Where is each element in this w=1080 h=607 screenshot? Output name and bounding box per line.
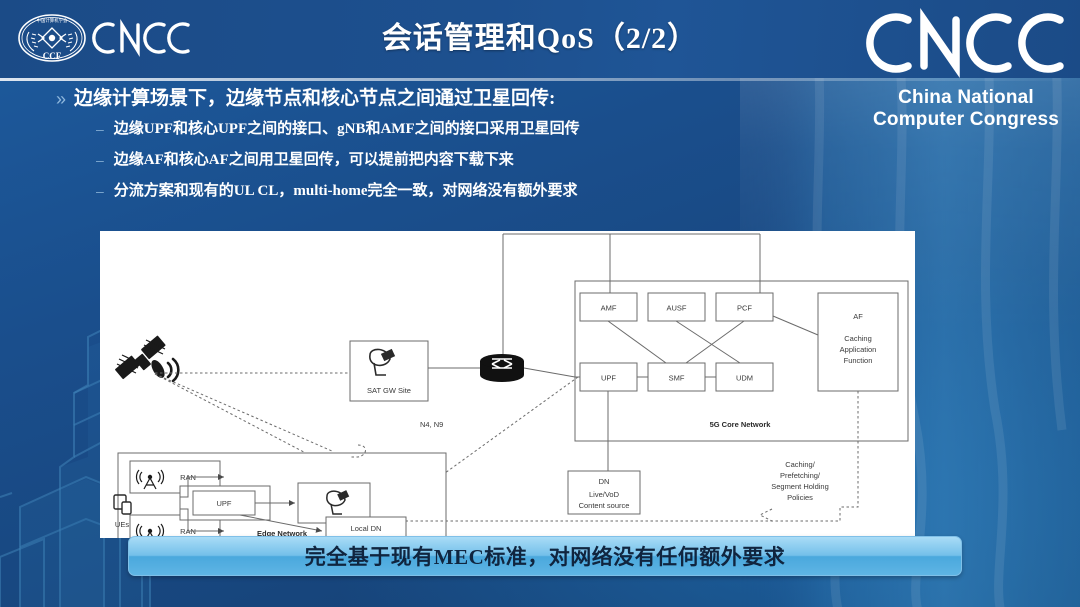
policies-line1: Caching/ bbox=[785, 460, 816, 469]
router-icon bbox=[480, 354, 524, 382]
af-application-label: Application bbox=[840, 345, 877, 354]
policy-arrow-icon bbox=[760, 509, 772, 521]
summary-banner: 完全基于现有MEC标准，对网络没有任何额外要求 bbox=[128, 536, 962, 576]
udm-label: UDM bbox=[736, 374, 753, 383]
upf-core-label: UPF bbox=[601, 374, 616, 383]
summary-banner-text: 完全基于现有MEC标准，对网络没有任何额外要求 bbox=[305, 541, 786, 571]
cncc-logo-line2: Computer Congress bbox=[858, 109, 1074, 131]
bullet-level2: – 分流方案和现有的UL CL，multi-home完全一致，对网络没有额外要求 bbox=[96, 180, 956, 202]
dash-marker-icon: – bbox=[96, 118, 104, 140]
policies-line2: Prefetching/ bbox=[780, 471, 821, 480]
ues-label: UEs bbox=[115, 520, 129, 529]
edge-upf-label: UPF bbox=[217, 499, 232, 508]
af-caching-label: Caching bbox=[844, 334, 872, 343]
policies-line3: Segment Holding bbox=[771, 482, 829, 491]
satellite-icon bbox=[115, 335, 179, 381]
smf-label: SMF bbox=[669, 374, 685, 383]
sub-bullet-list: – 边缘UPF和核心UPF之间的接口、gNB和AMF之间的接口采用卫星回传 – … bbox=[96, 118, 956, 202]
af-label: AF bbox=[853, 312, 863, 321]
dash-marker-icon: – bbox=[96, 149, 104, 171]
architecture-diagram-card: .bx{fill:#ffffff;stroke:#6b6b6b;stroke-w… bbox=[100, 231, 915, 538]
bullet-level1: » 边缘计算场景下，边缘节点和核心节点之间通过卫星回传: bbox=[56, 86, 956, 112]
bullet-level2-text: 分流方案和现有的UL CL，multi-home完全一致，对网络没有额外要求 bbox=[114, 180, 578, 202]
architecture-diagram: .bx{fill:#ffffff;stroke:#6b6b6b;stroke-w… bbox=[100, 231, 915, 538]
pcf-label: PCF bbox=[737, 304, 752, 313]
bullet-list: » 边缘计算场景下，边缘节点和核心节点之间通过卫星回传: – 边缘UPF和核心U… bbox=[56, 86, 956, 211]
bullet-level2: – 边缘AF和核心AF之间用卫星回传，可以提前把内容下载下来 bbox=[96, 149, 956, 171]
cncc-header-wordmark bbox=[92, 16, 192, 60]
bullet-level2-text: 边缘AF和核心AF之间用卫星回传，可以提前把内容下载下来 bbox=[114, 149, 514, 171]
cncc-brand-logo: China National Computer Congress bbox=[858, 4, 1074, 131]
ccf-logo-label: CCF bbox=[43, 51, 62, 61]
ccf-logo-icon: CCF 中国计算机学会 bbox=[16, 12, 88, 64]
dn-label: DN bbox=[599, 477, 610, 486]
dn-content-source-label: Content source bbox=[579, 501, 630, 510]
bullet-level1-text: 边缘计算场景下，边缘节点和核心节点之间通过卫星回传: bbox=[74, 86, 555, 112]
bullet-marker-icon: » bbox=[56, 86, 66, 112]
sat-gw-site-label: SAT GW Site bbox=[367, 386, 411, 395]
dash-marker-icon: – bbox=[96, 180, 104, 202]
amf-label: AMF bbox=[601, 304, 617, 313]
ccf-logo-arc-label: 中国计算机学会 bbox=[37, 17, 68, 24]
bullet-level2-text: 边缘UPF和核心UPF之间的接口、gNB和AMF之间的接口采用卫星回传 bbox=[114, 118, 580, 140]
af-function-label: Function bbox=[844, 356, 873, 365]
cncc-logo-mark bbox=[864, 4, 1069, 82]
dn-livevod-label: Live/VoD bbox=[589, 490, 620, 499]
ausf-label: AUSF bbox=[666, 304, 686, 313]
local-dn-label: Local DN bbox=[351, 524, 382, 533]
slide: CCF 中国计算机学会 会话管理和QoS（2/2） China National… bbox=[0, 0, 1080, 607]
cncc-logo-line1: China National bbox=[858, 87, 1074, 109]
core-network-label: 5G Core Network bbox=[710, 420, 772, 429]
n4-n9-label: N4, N9 bbox=[420, 420, 443, 429]
policies-line4: Policies bbox=[787, 493, 813, 502]
bullet-level2: – 边缘UPF和核心UPF之间的接口、gNB和AMF之间的接口采用卫星回传 bbox=[96, 118, 956, 140]
satellite-link-to-edge-2 bbox=[155, 374, 332, 451]
